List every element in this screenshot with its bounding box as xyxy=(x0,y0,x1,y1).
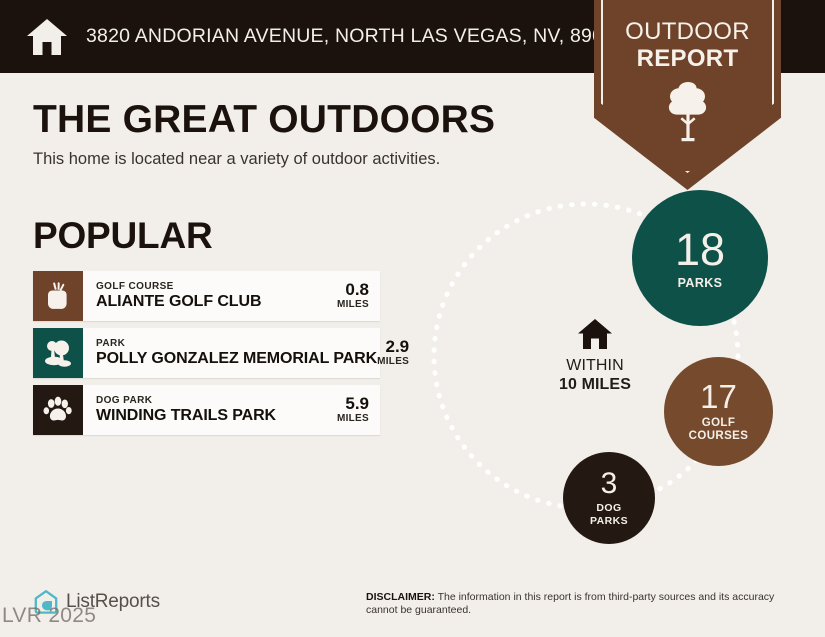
stat-bubble-dog-parks[interactable]: 3 DOG PARKS xyxy=(563,452,655,544)
stat-bubble-golf-courses[interactable]: 17 GOLF COURSES xyxy=(664,357,773,466)
distance-unit: MILES xyxy=(377,356,409,368)
within-line2: 10 MILES xyxy=(540,375,650,394)
golf-count: 17 xyxy=(700,380,737,413)
list-item-name: WINDING TRAILS PARK xyxy=(96,407,337,425)
list-item-name: ALIANTE GOLF CLUB xyxy=(96,293,337,311)
home-icon xyxy=(577,318,613,350)
within-text: WITHIN 10 MILES xyxy=(540,356,650,394)
stat-bubble-parks[interactable]: 18 PARKS xyxy=(632,190,768,326)
list-item[interactable]: DOG PARK WINDING TRAILS PARK 5.9 MILES xyxy=(33,385,380,435)
popular-poi-list: GOLF COURSE ALIANTE GOLF CLUB 0.8 MILES xyxy=(33,271,380,442)
badge-title-line1: OUTDOOR xyxy=(625,18,750,45)
list-item-category: DOG PARK xyxy=(96,395,337,407)
badge-title: OUTDOOR REPORT xyxy=(594,18,781,72)
distance-unit: MILES xyxy=(337,299,369,311)
list-item-text: DOG PARK WINDING TRAILS PARK xyxy=(83,385,337,435)
within-line1: WITHIN xyxy=(540,356,650,375)
distance-unit: MILES xyxy=(337,413,369,425)
dog-parks-label-line1: DOG xyxy=(590,502,628,515)
dog-parks-label-line2: PARKS xyxy=(590,515,628,528)
list-item-distance: 5.9 MILES xyxy=(337,385,380,435)
outdoor-report-badge: OUTDOOR REPORT xyxy=(594,0,781,190)
dog-parks-label: DOG PARKS xyxy=(590,502,628,528)
list-item[interactable]: GOLF COURSE ALIANTE GOLF CLUB 0.8 MILES xyxy=(33,271,380,321)
list-item-text: GOLF COURSE ALIANTE GOLF CLUB xyxy=(83,271,337,321)
page-subtitle: This home is located near a variety of o… xyxy=(33,150,440,169)
parks-label: PARKS xyxy=(678,277,723,290)
tree-icon xyxy=(33,328,83,378)
golf-bag-icon xyxy=(33,271,83,321)
page-title: THE GREAT OUTDOORS xyxy=(33,98,495,142)
list-item-distance: 0.8 MILES xyxy=(337,271,380,321)
list-item[interactable]: PARK POLLY GONZALEZ MEMORIAL PARK 2.9 MI… xyxy=(33,328,380,378)
list-item-text: PARK POLLY GONZALEZ MEMORIAL PARK xyxy=(83,328,377,378)
distance-value: 0.8 xyxy=(337,281,369,299)
distance-value: 5.9 xyxy=(337,395,369,413)
disclaimer: DISCLAIMER: The information in this repo… xyxy=(366,591,796,617)
tree-icon xyxy=(665,80,711,142)
popular-section-title: POPULAR xyxy=(33,215,213,257)
list-item-category: GOLF COURSE xyxy=(96,281,337,293)
parks-count: 18 xyxy=(675,227,725,272)
outdoor-report-page: 3820 ANDORIAN AVENUE, NORTH LAS VEGAS, N… xyxy=(0,0,825,637)
golf-label-line1: GOLF xyxy=(689,417,749,430)
within-radius-label: WITHIN 10 MILES xyxy=(540,318,650,394)
paw-print-icon xyxy=(33,385,83,435)
list-item-distance: 2.9 MILES xyxy=(377,328,420,378)
lvr-watermark: LVR 2025 xyxy=(2,604,96,628)
badge-title-line2: REPORT xyxy=(594,45,781,72)
golf-label: GOLF COURSES xyxy=(689,417,749,443)
list-item-category: PARK xyxy=(96,338,377,350)
dog-parks-count: 3 xyxy=(601,469,618,499)
disclaimer-label: DISCLAIMER: xyxy=(366,591,435,603)
list-item-name: POLLY GONZALEZ MEMORIAL PARK xyxy=(96,350,377,368)
property-address: 3820 ANDORIAN AVENUE, NORTH LAS VEGAS, N… xyxy=(86,25,625,48)
home-icon xyxy=(26,17,68,57)
golf-label-line2: COURSES xyxy=(689,430,749,443)
distance-value: 2.9 xyxy=(377,338,409,356)
